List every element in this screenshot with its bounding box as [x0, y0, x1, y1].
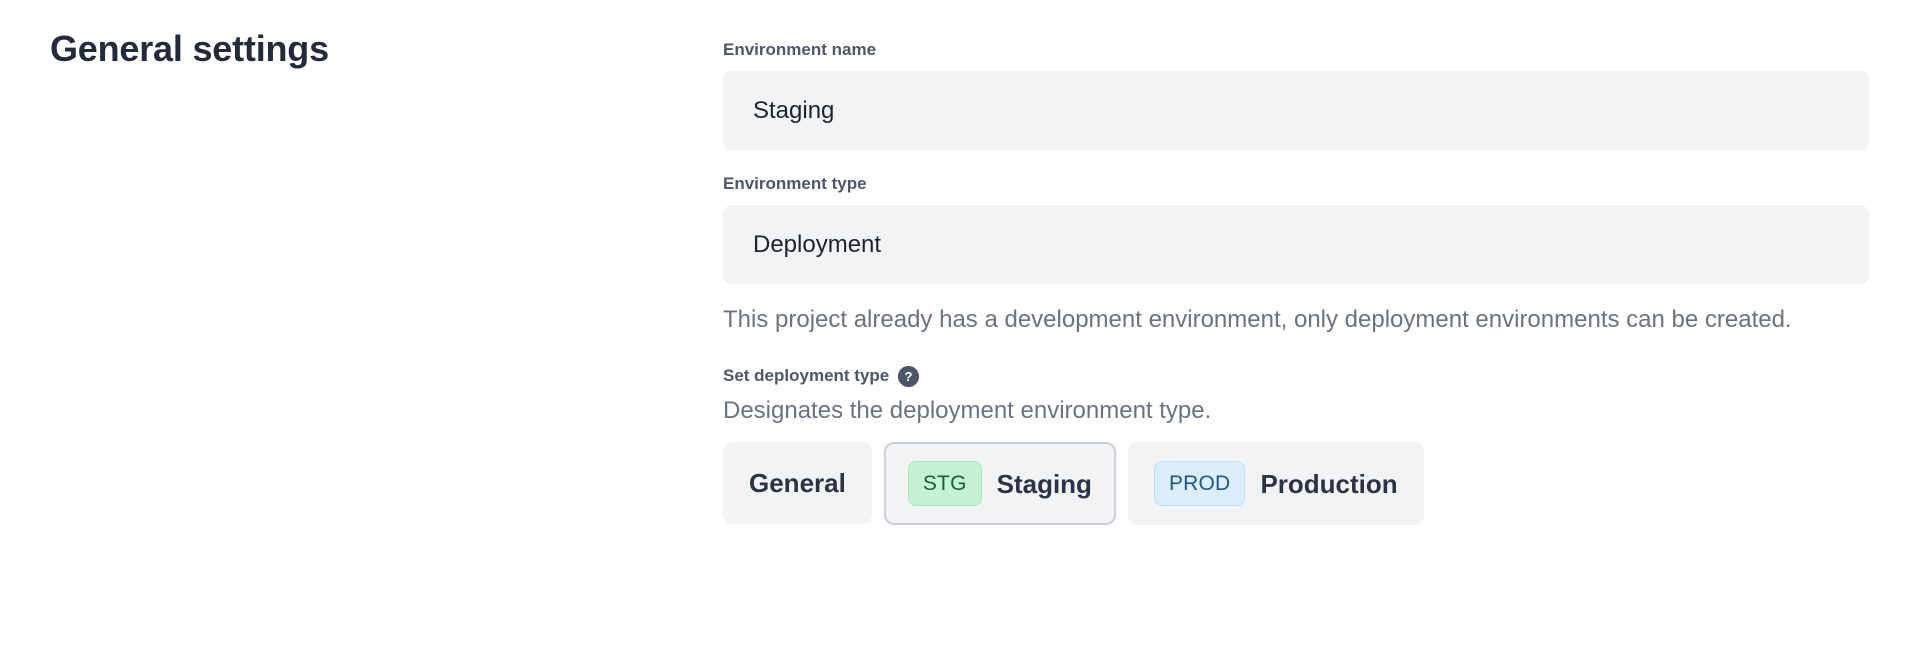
deployment-type-field: Set deployment type ? Designates the dep…	[723, 364, 1869, 525]
page-title: General settings	[50, 26, 670, 72]
staging-badge: STG	[908, 461, 982, 506]
question-mark-icon[interactable]: ?	[898, 366, 919, 387]
deployment-type-option-production[interactable]: PROD Production	[1128, 442, 1424, 525]
environment-type-label: Environment type	[723, 172, 1869, 196]
environment-type-field: Environment type This project already ha…	[723, 172, 1869, 340]
general-settings-page: General settings Environment name Enviro…	[0, 0, 1916, 652]
deployment-type-description: Designates the deployment environment ty…	[723, 394, 1869, 428]
deployment-type-option-staging[interactable]: STG Staging	[884, 442, 1116, 525]
svg-text:?: ?	[905, 369, 913, 384]
deployment-type-option-general-label: General	[749, 468, 846, 498]
environment-name-input[interactable]	[723, 71, 1869, 150]
environment-name-field: Environment name	[723, 38, 1869, 150]
deployment-type-option-staging-label: Staging	[997, 469, 1092, 499]
environment-name-label: Environment name	[723, 38, 1869, 62]
deployment-type-label: Set deployment type	[723, 364, 889, 388]
deployment-type-option-production-label: Production	[1260, 469, 1397, 499]
deployment-type-label-row: Set deployment type ?	[723, 364, 1869, 388]
deployment-type-option-group: General STG Staging PROD Production	[723, 442, 1869, 525]
production-badge: PROD	[1154, 461, 1245, 506]
settings-section-header: General settings	[50, 26, 670, 72]
environment-type-input[interactable]	[723, 205, 1869, 284]
general-settings-form: Environment name Environment type This p…	[723, 38, 1869, 525]
environment-type-help-text: This project already has a development e…	[723, 300, 1843, 340]
deployment-type-option-general[interactable]: General	[723, 442, 872, 524]
